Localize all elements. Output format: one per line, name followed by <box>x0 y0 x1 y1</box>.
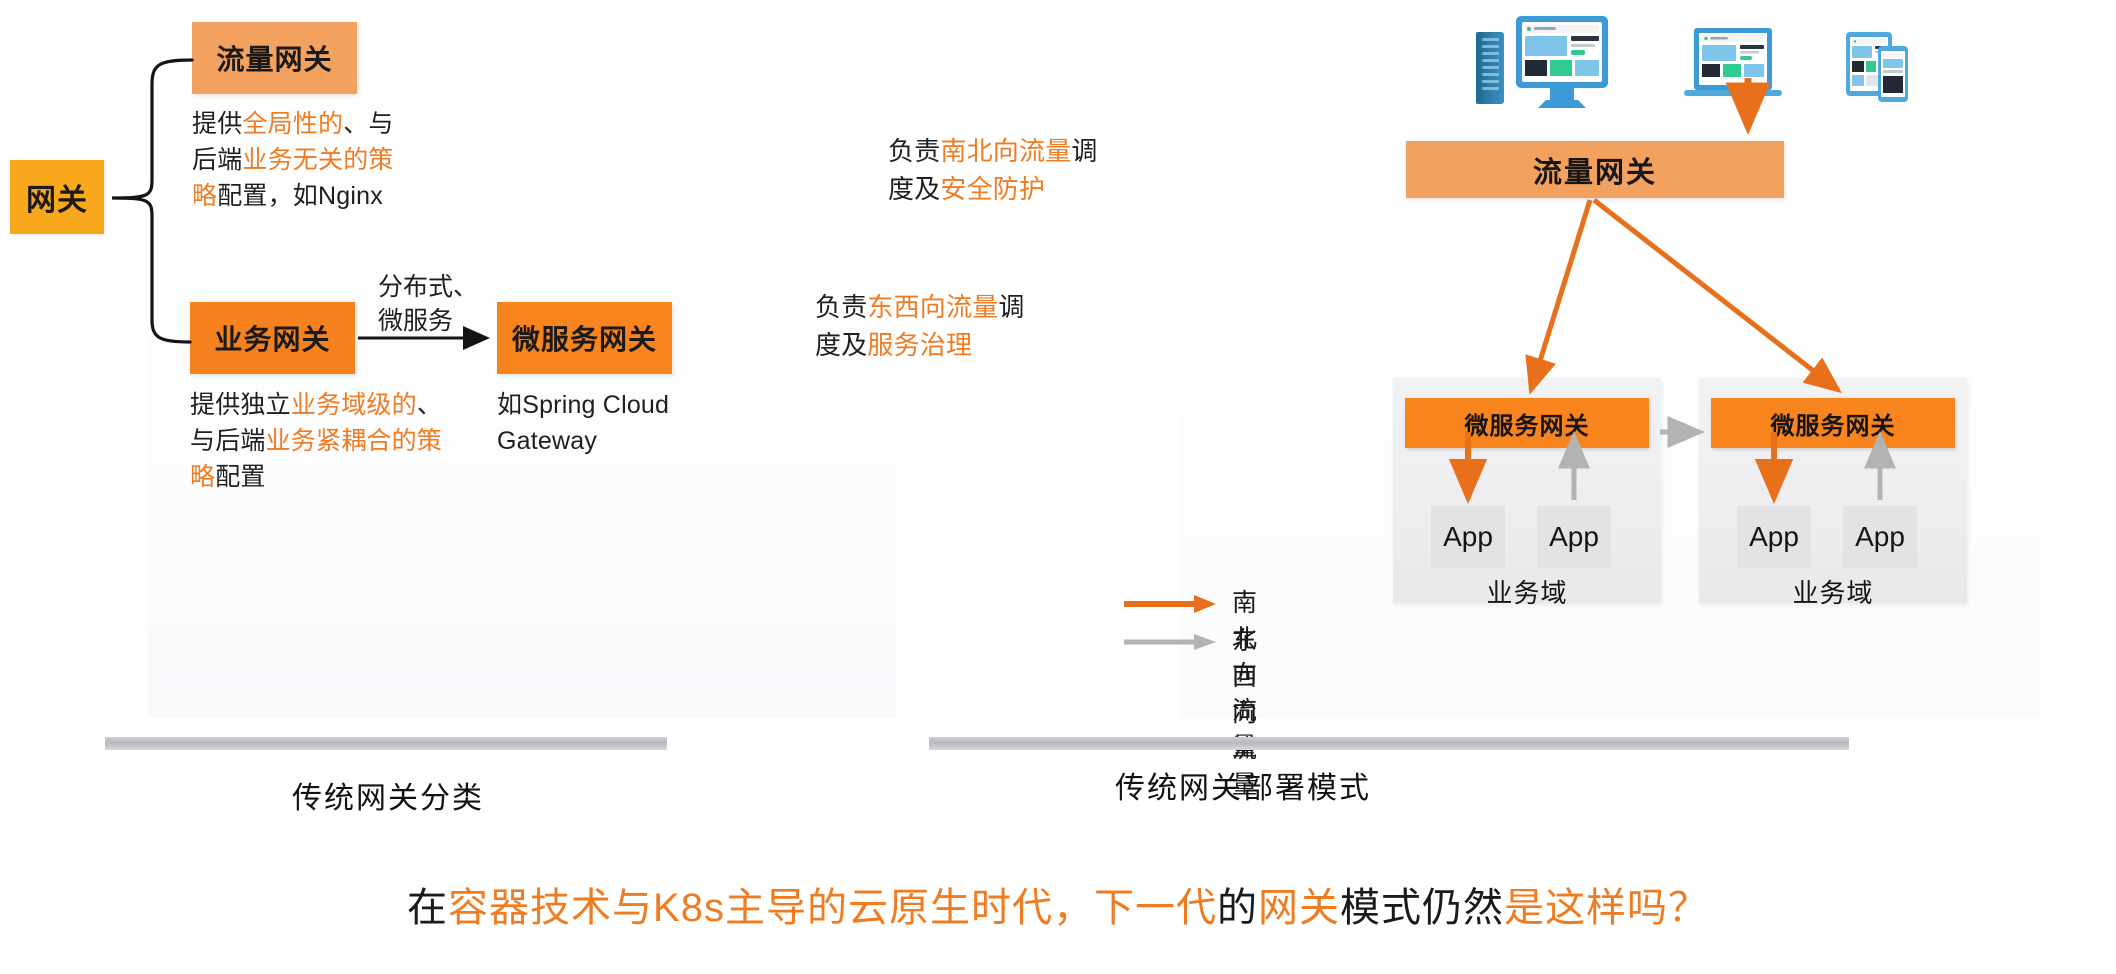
legend-row-north-south: 南北向流量 <box>1120 585 1220 623</box>
micro-gateway-note: 如Spring Cloud Gateway <box>497 387 697 459</box>
app-box-right-2[interactable]: App <box>1843 506 1917 568</box>
app-box-right-1[interactable]: App <box>1737 506 1811 568</box>
business-gateway-box[interactable]: 业务网关 <box>190 302 355 374</box>
server-rack-icon <box>1476 32 1504 104</box>
traffic-gateway-note: 提供全局性的、与后端业务无关的策略配置，如Nginx <box>192 106 417 214</box>
device-cluster <box>1470 4 1940 114</box>
business-gateway-note: 提供独立业务域级的、与后端业务紧耦合的策略配置 <box>190 387 458 495</box>
business-domain-label-left: 业务域 <box>1393 573 1661 610</box>
micro-gateway-box-right[interactable]: 微服务网关 <box>1711 398 1955 448</box>
business-domain-right: 微服务网关 App App 业务域 <box>1699 378 1967 603</box>
business-domain-label-right: 业务域 <box>1699 573 1967 610</box>
edge-label-distributed: 分布式、微服务 <box>378 270 498 338</box>
right-separator-bar <box>929 737 1849 750</box>
east-west-note: 负责东西向流量调度及服务治理 <box>815 288 1050 364</box>
left-caption: 传统网关分类 <box>292 773 484 817</box>
tablet-phone-icon <box>1846 32 1908 102</box>
app-box-left-2[interactable]: App <box>1537 506 1611 568</box>
north-south-note: 负责南北向流量调度及安全防护 <box>888 132 1103 208</box>
app-box-left-1[interactable]: App <box>1431 506 1505 568</box>
legend: 南北向流量 东西向流量 <box>1120 585 1220 661</box>
gateway-root-box[interactable]: 网关 <box>10 160 104 234</box>
right-traffic-gateway-box[interactable]: 流量网关 <box>1406 141 1784 198</box>
micro-gateway-box[interactable]: 微服务网关 <box>497 302 672 374</box>
micro-gateway-box-left[interactable]: 微服务网关 <box>1405 398 1649 448</box>
left-separator-bar <box>105 737 667 750</box>
legend-row-east-west: 东西向流量 <box>1120 623 1220 661</box>
bottom-headline: 在容器技术与K8s主导的云原生时代，下一代的网关模式仍然是这样吗？ <box>0 875 2116 933</box>
desktop-monitor-icon <box>1516 16 1608 108</box>
laptop-icon <box>1684 28 1782 96</box>
east-west-arrow-icon <box>1120 623 1220 661</box>
traffic-gateway-box[interactable]: 流量网关 <box>192 22 357 94</box>
right-caption: 传统网关部署模式 <box>1115 763 1371 807</box>
business-domain-left: 微服务网关 App App 业务域 <box>1393 378 1661 603</box>
slide-canvas: 网关 流量网关 提供全局性的、与后端业务无关的策略配置，如Nginx 业务网关 … <box>0 0 2116 974</box>
north-south-arrow-icon <box>1120 585 1220 623</box>
